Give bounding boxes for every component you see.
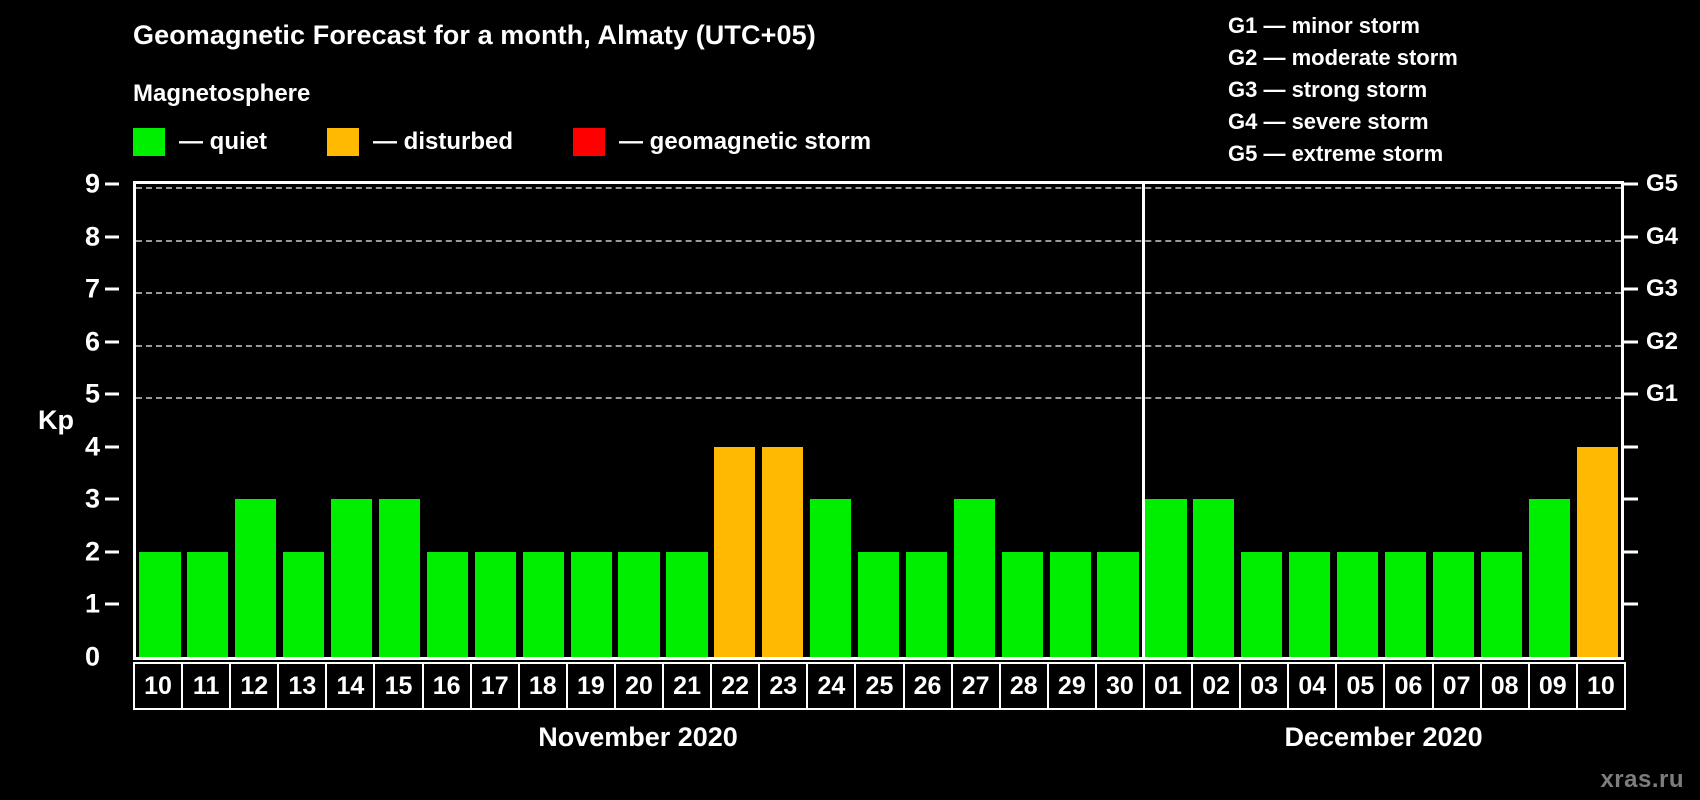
date-cell-16[interactable]: 16 [422,662,472,710]
bar-slot-18 [519,184,567,657]
bar-day-01 [1145,499,1186,657]
g-axis-label-G4: G4 [1646,223,1678,251]
date-cell-09[interactable]: 09 [1528,662,1578,710]
date-cell-12[interactable]: 12 [229,662,279,710]
bar-day-02 [1193,499,1234,657]
g-legend-row-5: G5 — extreme storm [1228,138,1458,170]
date-cell-26[interactable]: 26 [903,662,953,710]
g-scale-axis: G1G2G3G4G5 [1624,181,1700,660]
bar-day-13 [283,552,324,657]
date-axis-row: 1011121314151617181920212223242526272829… [133,662,1624,710]
bar-slot-12 [232,184,280,657]
date-cell-22[interactable]: 22 [710,662,760,710]
bar-day-12 [235,499,276,657]
bar-day-19 [571,552,612,657]
date-cell-15[interactable]: 15 [373,662,423,710]
y-tick-label-3: 3 [85,484,100,515]
y-tick-mark-7 [105,288,119,291]
date-cell-11[interactable]: 11 [181,662,231,710]
g-axis-label-G3: G3 [1646,275,1678,303]
bar-day-10 [139,552,180,657]
g-axis-tick-G4 [1624,235,1638,238]
bar-slot-11 [184,184,232,657]
date-cell-21[interactable]: 21 [662,662,712,710]
g-axis-minor-tick-kp-4 [1624,445,1638,448]
g-axis-tick-G1 [1624,393,1638,396]
bar-slot-10 [1573,184,1621,657]
date-cell-13[interactable]: 13 [277,662,327,710]
bar-slot-08 [1477,184,1525,657]
magnetosphere-label: Magnetosphere [133,80,310,108]
bar-slot-28 [998,184,1046,657]
date-cell-29[interactable]: 29 [1047,662,1097,710]
legend-item-1: — disturbed [327,128,513,156]
bar-day-08 [1481,552,1522,657]
g-legend-row-2: G2 — moderate storm [1228,42,1458,74]
y-tick-mark-9 [105,183,119,186]
bar-slot-30 [1094,184,1142,657]
y-tick-mark-3 [105,498,119,501]
date-cell-17[interactable]: 17 [470,662,520,710]
bar-slot-15 [376,184,424,657]
bar-slot-23 [759,184,807,657]
month-captions: November 2020December 2020 [133,722,1624,768]
bar-day-25 [858,552,899,657]
date-cell-06[interactable]: 06 [1383,662,1433,710]
bar-slot-14 [328,184,376,657]
legend-item-0: — quiet [133,128,267,156]
g-axis-tick-G3 [1624,288,1638,291]
bar-series [136,184,1621,657]
bar-day-28 [1002,552,1043,657]
date-cell-30[interactable]: 30 [1095,662,1145,710]
date-cell-03[interactable]: 03 [1239,662,1289,710]
date-cell-01[interactable]: 01 [1143,662,1193,710]
date-cell-08[interactable]: 08 [1480,662,1530,710]
bar-day-06 [1385,552,1426,657]
legend-item-2: — geomagnetic storm [573,128,871,156]
y-tick-label-6: 6 [85,326,100,357]
bar-slot-05 [1334,184,1382,657]
g-legend-row-3: G3 — strong storm [1228,74,1458,106]
g-axis-minor-tick-kp-1 [1624,603,1638,606]
bar-slot-20 [615,184,663,657]
page-title: Geomagnetic Forecast for a month, Almaty… [133,20,816,51]
bar-slot-27 [950,184,998,657]
bar-slot-04 [1286,184,1334,657]
color-legend: — quiet— disturbed— geomagnetic storm [133,128,931,156]
quiet-swatch [133,128,165,156]
bar-day-14 [331,499,372,657]
storm-swatch [573,128,605,156]
date-cell-10[interactable]: 10 [1576,662,1626,710]
bar-day-24 [810,499,851,657]
date-cell-05[interactable]: 05 [1335,662,1385,710]
disturbed-swatch [327,128,359,156]
bar-slot-24 [807,184,855,657]
g-legend-row-1: G1 — minor storm [1228,10,1458,42]
bar-day-07 [1433,552,1474,657]
date-cell-20[interactable]: 20 [614,662,664,710]
legend-label: — disturbed [373,128,513,156]
g-axis-minor-tick-kp-3 [1624,498,1638,501]
bar-day-16 [427,552,468,657]
y-tick-label-0: 0 [85,642,100,673]
date-cell-02[interactable]: 02 [1191,662,1241,710]
bar-slot-07 [1429,184,1477,657]
y-axis: 0123456789 [0,181,133,660]
y-tick-mark-8 [105,235,119,238]
bar-slot-26 [903,184,951,657]
y-tick-label-1: 1 [85,589,100,620]
y-tick-mark-2 [105,550,119,553]
bar-slot-19 [567,184,615,657]
bar-day-21 [666,552,707,657]
y-tick-label-9: 9 [85,169,100,200]
bar-day-26 [906,552,947,657]
bar-day-11 [187,552,228,657]
g-axis-tick-G5 [1624,183,1638,186]
legend-label: — geomagnetic storm [619,128,871,156]
bar-day-22 [714,447,755,657]
bar-day-23 [762,447,803,657]
date-cell-07[interactable]: 07 [1432,662,1482,710]
bar-day-20 [618,552,659,657]
bar-day-04 [1289,552,1330,657]
date-cell-24[interactable]: 24 [806,662,856,710]
bar-day-10 [1577,447,1618,657]
bar-slot-02 [1190,184,1238,657]
date-cell-04[interactable]: 04 [1287,662,1337,710]
bar-slot-06 [1382,184,1430,657]
bar-slot-17 [471,184,519,657]
g-axis-label-G2: G2 [1646,328,1678,356]
g-axis-minor-tick-kp-2 [1624,550,1638,553]
bar-day-30 [1097,552,1138,657]
g-legend-row-4: G4 — severe storm [1228,106,1458,138]
month-caption-0: November 2020 [538,722,738,753]
y-tick-label-7: 7 [85,274,100,305]
y-tick-mark-6 [105,340,119,343]
date-cell-27[interactable]: 27 [951,662,1001,710]
y-tick-label-8: 8 [85,221,100,252]
bar-day-18 [523,552,564,657]
y-tick-mark-5 [105,393,119,396]
month-caption-1: December 2020 [1284,722,1482,753]
y-tick-mark-4 [105,445,119,448]
legend-label: — quiet [179,128,267,156]
bar-day-09 [1529,499,1570,657]
date-cell-14[interactable]: 14 [325,662,375,710]
bar-day-29 [1050,552,1091,657]
bar-slot-25 [855,184,903,657]
bar-slot-16 [423,184,471,657]
date-cell-25[interactable]: 25 [854,662,904,710]
bar-slot-10 [136,184,184,657]
bar-day-03 [1241,552,1282,657]
g-axis-tick-G2 [1624,340,1638,343]
date-cell-28[interactable]: 28 [999,662,1049,710]
y-tick-label-5: 5 [85,379,100,410]
site-watermark: xras.ru [1600,766,1684,794]
bar-slot-01 [1142,184,1190,657]
bar-day-27 [954,499,995,657]
date-cell-19[interactable]: 19 [566,662,616,710]
g-axis-label-G5: G5 [1646,170,1678,198]
bar-slot-13 [280,184,328,657]
bar-day-05 [1337,552,1378,657]
bar-slot-29 [1046,184,1094,657]
chart-plot-area [133,181,1624,660]
bar-day-15 [379,499,420,657]
bar-slot-22 [711,184,759,657]
bar-day-17 [475,552,516,657]
y-tick-label-4: 4 [85,431,100,462]
date-cell-10[interactable]: 10 [133,662,183,710]
date-cell-18[interactable]: 18 [518,662,568,710]
bar-slot-21 [663,184,711,657]
g-axis-label-G1: G1 [1646,380,1678,408]
bar-slot-03 [1238,184,1286,657]
bar-slot-09 [1525,184,1573,657]
y-tick-mark-1 [105,603,119,606]
g-scale-legend: G1 — minor stormG2 — moderate stormG3 — … [1228,10,1458,170]
date-cell-23[interactable]: 23 [758,662,808,710]
y-tick-label-2: 2 [85,536,100,567]
